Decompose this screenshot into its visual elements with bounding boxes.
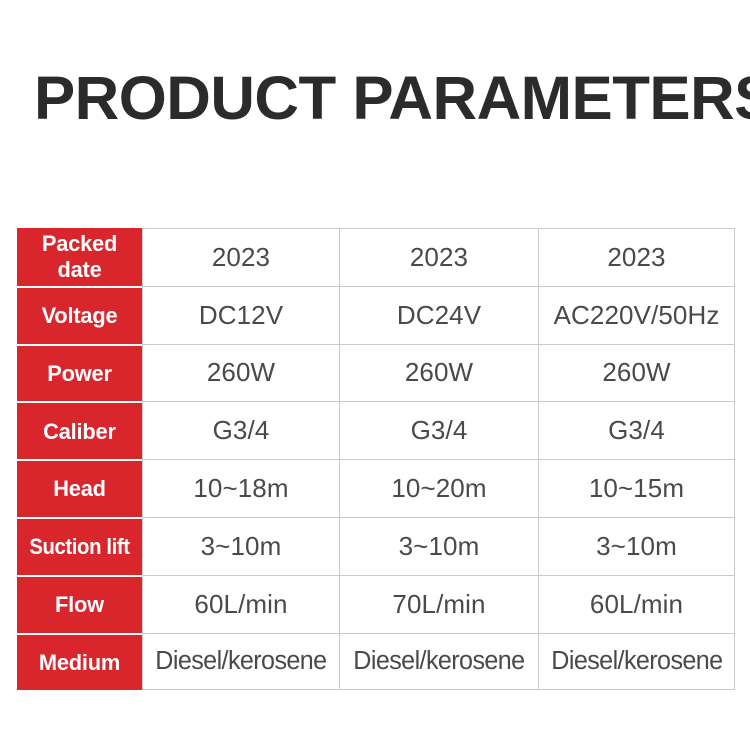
cell-voltage-col3: AC220V/50Hz bbox=[539, 286, 735, 344]
cell-packed-date-col1: 2023 bbox=[142, 228, 340, 286]
cell-suction-lift-col3: 3~10m bbox=[539, 517, 735, 575]
table-row: Caliber G3/4 G3/4 G3/4 bbox=[17, 401, 735, 459]
row-label-text: Caliber bbox=[21, 419, 138, 444]
row-label-voltage: Voltage bbox=[17, 286, 142, 344]
table-row: Medium Diesel/kerosene Diesel/kerosene D… bbox=[17, 633, 735, 691]
row-label-text: Medium bbox=[21, 650, 138, 675]
row-label-text: Head bbox=[21, 476, 138, 501]
row-label-power: Power bbox=[17, 344, 142, 402]
table-row: Suction lift 3~10m 3~10m 3~10m bbox=[17, 517, 735, 575]
cell-power-col2: 260W bbox=[340, 344, 539, 402]
cell-voltage-col1: DC12V bbox=[142, 286, 340, 344]
row-label-head: Head bbox=[17, 459, 142, 517]
table-row: Head 10~18m 10~20m 10~15m bbox=[17, 459, 735, 517]
cell-suction-lift-col2: 3~10m bbox=[340, 517, 539, 575]
cell-caliber-col2: G3/4 bbox=[340, 401, 539, 459]
row-label-suction-lift: Suction lift bbox=[17, 517, 142, 575]
cell-medium-col2-text: Diesel/kerosene bbox=[353, 647, 524, 676]
row-label-text: Power bbox=[21, 361, 138, 386]
cell-head-col1: 10~18m bbox=[142, 459, 340, 517]
cell-suction-lift-col1: 3~10m bbox=[142, 517, 340, 575]
row-label-caliber: Caliber bbox=[17, 401, 142, 459]
table-row: Power 260W 260W 260W bbox=[17, 344, 735, 402]
cell-medium-col3-text: Diesel/kerosene bbox=[551, 647, 722, 676]
cell-packed-date-col2: 2023 bbox=[340, 228, 539, 286]
table-row: Packed date 2023 2023 2023 bbox=[17, 228, 735, 286]
cell-caliber-col1: G3/4 bbox=[142, 401, 340, 459]
page-title: PRODUCT PARAMETERS bbox=[34, 62, 740, 134]
cell-head-col2: 10~20m bbox=[340, 459, 539, 517]
cell-power-col3: 260W bbox=[539, 344, 735, 402]
cell-packed-date-col3: 2023 bbox=[539, 228, 735, 286]
cell-caliber-col3: G3/4 bbox=[539, 401, 735, 459]
cell-medium-col3: Diesel/kerosene bbox=[539, 633, 735, 691]
cell-medium-col1: Diesel/kerosene bbox=[142, 633, 340, 691]
row-label-text: Flow bbox=[21, 592, 138, 617]
cell-voltage-col2: DC24V bbox=[340, 286, 539, 344]
row-label-packed-date: Packed date bbox=[17, 228, 142, 286]
cell-flow-col2: 70L/min bbox=[340, 575, 539, 633]
table-row: Flow 60L/min 70L/min 60L/min bbox=[17, 575, 735, 633]
product-parameters-table: Packed date 2023 2023 2023 Voltage DC12V… bbox=[17, 228, 735, 690]
row-label-text: Suction lift bbox=[25, 534, 134, 559]
row-label-text: Packed date bbox=[21, 231, 138, 282]
cell-power-col1: 260W bbox=[142, 344, 340, 402]
cell-flow-col3: 60L/min bbox=[539, 575, 735, 633]
cell-head-col3: 10~15m bbox=[539, 459, 735, 517]
cell-flow-col1: 60L/min bbox=[142, 575, 340, 633]
table-row: Voltage DC12V DC24V AC220V/50Hz bbox=[17, 286, 735, 344]
cell-medium-col1-text: Diesel/kerosene bbox=[155, 647, 326, 676]
row-label-flow: Flow bbox=[17, 575, 142, 633]
cell-medium-col2: Diesel/kerosene bbox=[340, 633, 539, 691]
row-label-text: Voltage bbox=[21, 303, 138, 328]
row-label-medium: Medium bbox=[17, 633, 142, 691]
